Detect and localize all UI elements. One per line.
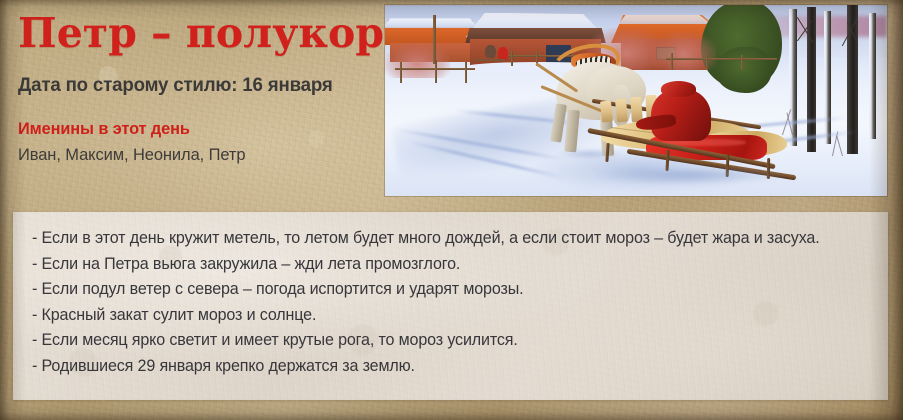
folk-calendar-card: Петр – полукорм Дата по старому стилю: 1… (0, 0, 903, 420)
edge-vignette (0, 0, 903, 420)
